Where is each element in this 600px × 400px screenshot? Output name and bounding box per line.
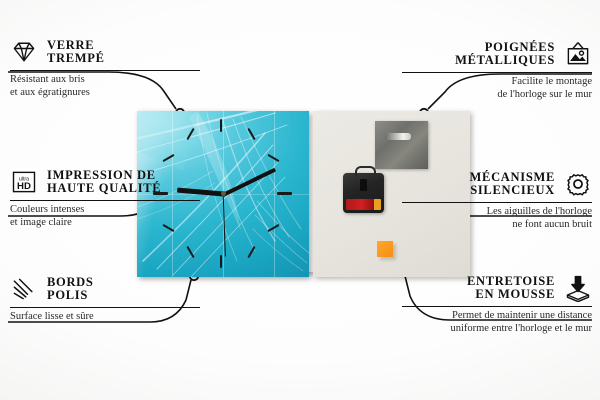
quartz-mechanism: [343, 173, 384, 213]
feature-header: POIGNÉES MÉTALLIQUES: [402, 40, 592, 68]
minute-hand: [222, 167, 276, 196]
feature-divider: [10, 307, 200, 308]
feature-divider: [10, 200, 200, 201]
hour-tick: [247, 128, 255, 140]
gear-icon: [564, 170, 592, 198]
feature-desc-line2: ne font aucun bruit: [402, 219, 592, 232]
feature-divider: [10, 70, 200, 71]
feature-desc-line2: et image claire: [10, 217, 200, 230]
feature-header: MÉCANISME SILENCIEUX: [402, 170, 592, 198]
feature-title: VERRE TREMPÉ: [47, 39, 105, 66]
feature-desc-line1: Couleurs intenses: [10, 204, 200, 217]
feature-description: Couleurs intenses et image claire: [10, 204, 200, 229]
mechanism-shaft: [360, 179, 367, 191]
metal-hanger-plate: [375, 121, 428, 169]
diamond-icon: [10, 38, 38, 66]
feature-title-line1: IMPRESSION DE: [47, 169, 161, 183]
feature-description: Facilite le montage de l'horloge sur le …: [402, 76, 592, 101]
feature-desc-line2: et aux égratignures: [10, 87, 200, 100]
feature-desc-line1: Facilite le montage: [402, 76, 592, 89]
feature-title-line1: POIGNÉES: [455, 41, 555, 55]
feature-title-line1: VERRE: [47, 39, 105, 53]
feature-title: MÉCANISME SILENCIEUX: [470, 171, 555, 198]
feature-description: Permet de maintenir une distance uniform…: [402, 310, 592, 335]
feature-title-line2: SILENCIEUX: [470, 184, 555, 198]
hour-tick: [220, 255, 222, 268]
feature-title-line1: MÉCANISME: [470, 171, 555, 185]
feature-title-line2: TREMPÉ: [47, 52, 105, 66]
feature-header: ENTRETOISE EN MOUSSE: [402, 274, 592, 302]
hour-tick: [220, 119, 222, 132]
feature-bords-polis: BORDS POLIS Surface lisse et sûre: [10, 275, 200, 324]
feature-description: Résistant aux bris et aux égratignures: [10, 74, 200, 99]
feature-title-line2: EN MOUSSE: [467, 288, 555, 302]
feature-description: Les aiguilles de l'horloge ne font aucun…: [402, 206, 592, 231]
feature-title: IMPRESSION DE HAUTE QUALITÉ: [47, 169, 161, 196]
picture-hanger-icon: [564, 40, 592, 68]
feature-divider: [402, 202, 592, 203]
feature-header: BORDS POLIS: [10, 275, 200, 303]
feature-mecanisme-silencieux: MÉCANISME SILENCIEUX Les aiguilles de l'…: [402, 170, 592, 231]
feature-poignees-metalliques: POIGNÉES MÉTALLIQUES Facilite le montage…: [402, 40, 592, 101]
feature-title-line2: POLIS: [47, 289, 94, 303]
feature-title-line2: MÉTALLIQUES: [455, 54, 555, 68]
feature-title: ENTRETOISE EN MOUSSE: [467, 275, 555, 302]
feature-entretoise-en-mousse: ENTRETOISE EN MOUSSE Permet de maintenir…: [402, 274, 592, 335]
polished-edge-icon: [10, 275, 38, 303]
feature-title: POIGNÉES MÉTALLIQUES: [455, 41, 555, 68]
hour-tick: [247, 246, 255, 258]
hour-tick: [186, 246, 194, 258]
feature-title-line1: ENTRETOISE: [467, 275, 555, 289]
feature-desc-line2: uniforme entre l'horloge et le mur: [402, 323, 592, 336]
foam-spacer-icon: [564, 274, 592, 302]
clock-hub: [221, 191, 226, 196]
feature-desc-line1: Les aiguilles de l'horloge: [402, 206, 592, 219]
infographic-canvas: VERRE TREMPÉ Résistant aux bris et aux é…: [0, 0, 600, 400]
battery: [346, 199, 381, 210]
feature-title-line2: HAUTE QUALITÉ: [47, 182, 161, 196]
feature-desc-line2: de l'horloge sur le mur: [402, 89, 592, 102]
feature-divider: [402, 306, 592, 307]
feature-impression-haute-qualite: ultra HD IMPRESSION DE HAUTE QUALITÉ Cou…: [10, 168, 200, 229]
feature-desc-line1: Permet de maintenir une distance: [402, 310, 592, 323]
foam-spacer: [377, 241, 393, 257]
feature-verre-trempe: VERRE TREMPÉ Résistant aux bris et aux é…: [10, 38, 200, 99]
feature-desc-line1: Surface lisse et sûre: [10, 311, 200, 324]
feature-header: VERRE TREMPÉ: [10, 38, 200, 66]
feature-desc-line1: Résistant aux bris: [10, 74, 200, 87]
ultra-hd-icon: ultra HD: [10, 168, 38, 196]
hour-tick: [277, 192, 292, 195]
feature-title-line1: BORDS: [47, 276, 94, 290]
feature-description: Surface lisse et sûre: [10, 311, 200, 324]
feature-title: BORDS POLIS: [47, 276, 94, 303]
hanger-loop: [355, 166, 376, 177]
feature-header: ultra HD IMPRESSION DE HAUTE QUALITÉ: [10, 168, 200, 196]
hour-tick: [186, 128, 194, 140]
feature-divider: [402, 72, 592, 73]
hanger-slot: [385, 133, 411, 140]
hd-label: HD: [17, 181, 31, 192]
